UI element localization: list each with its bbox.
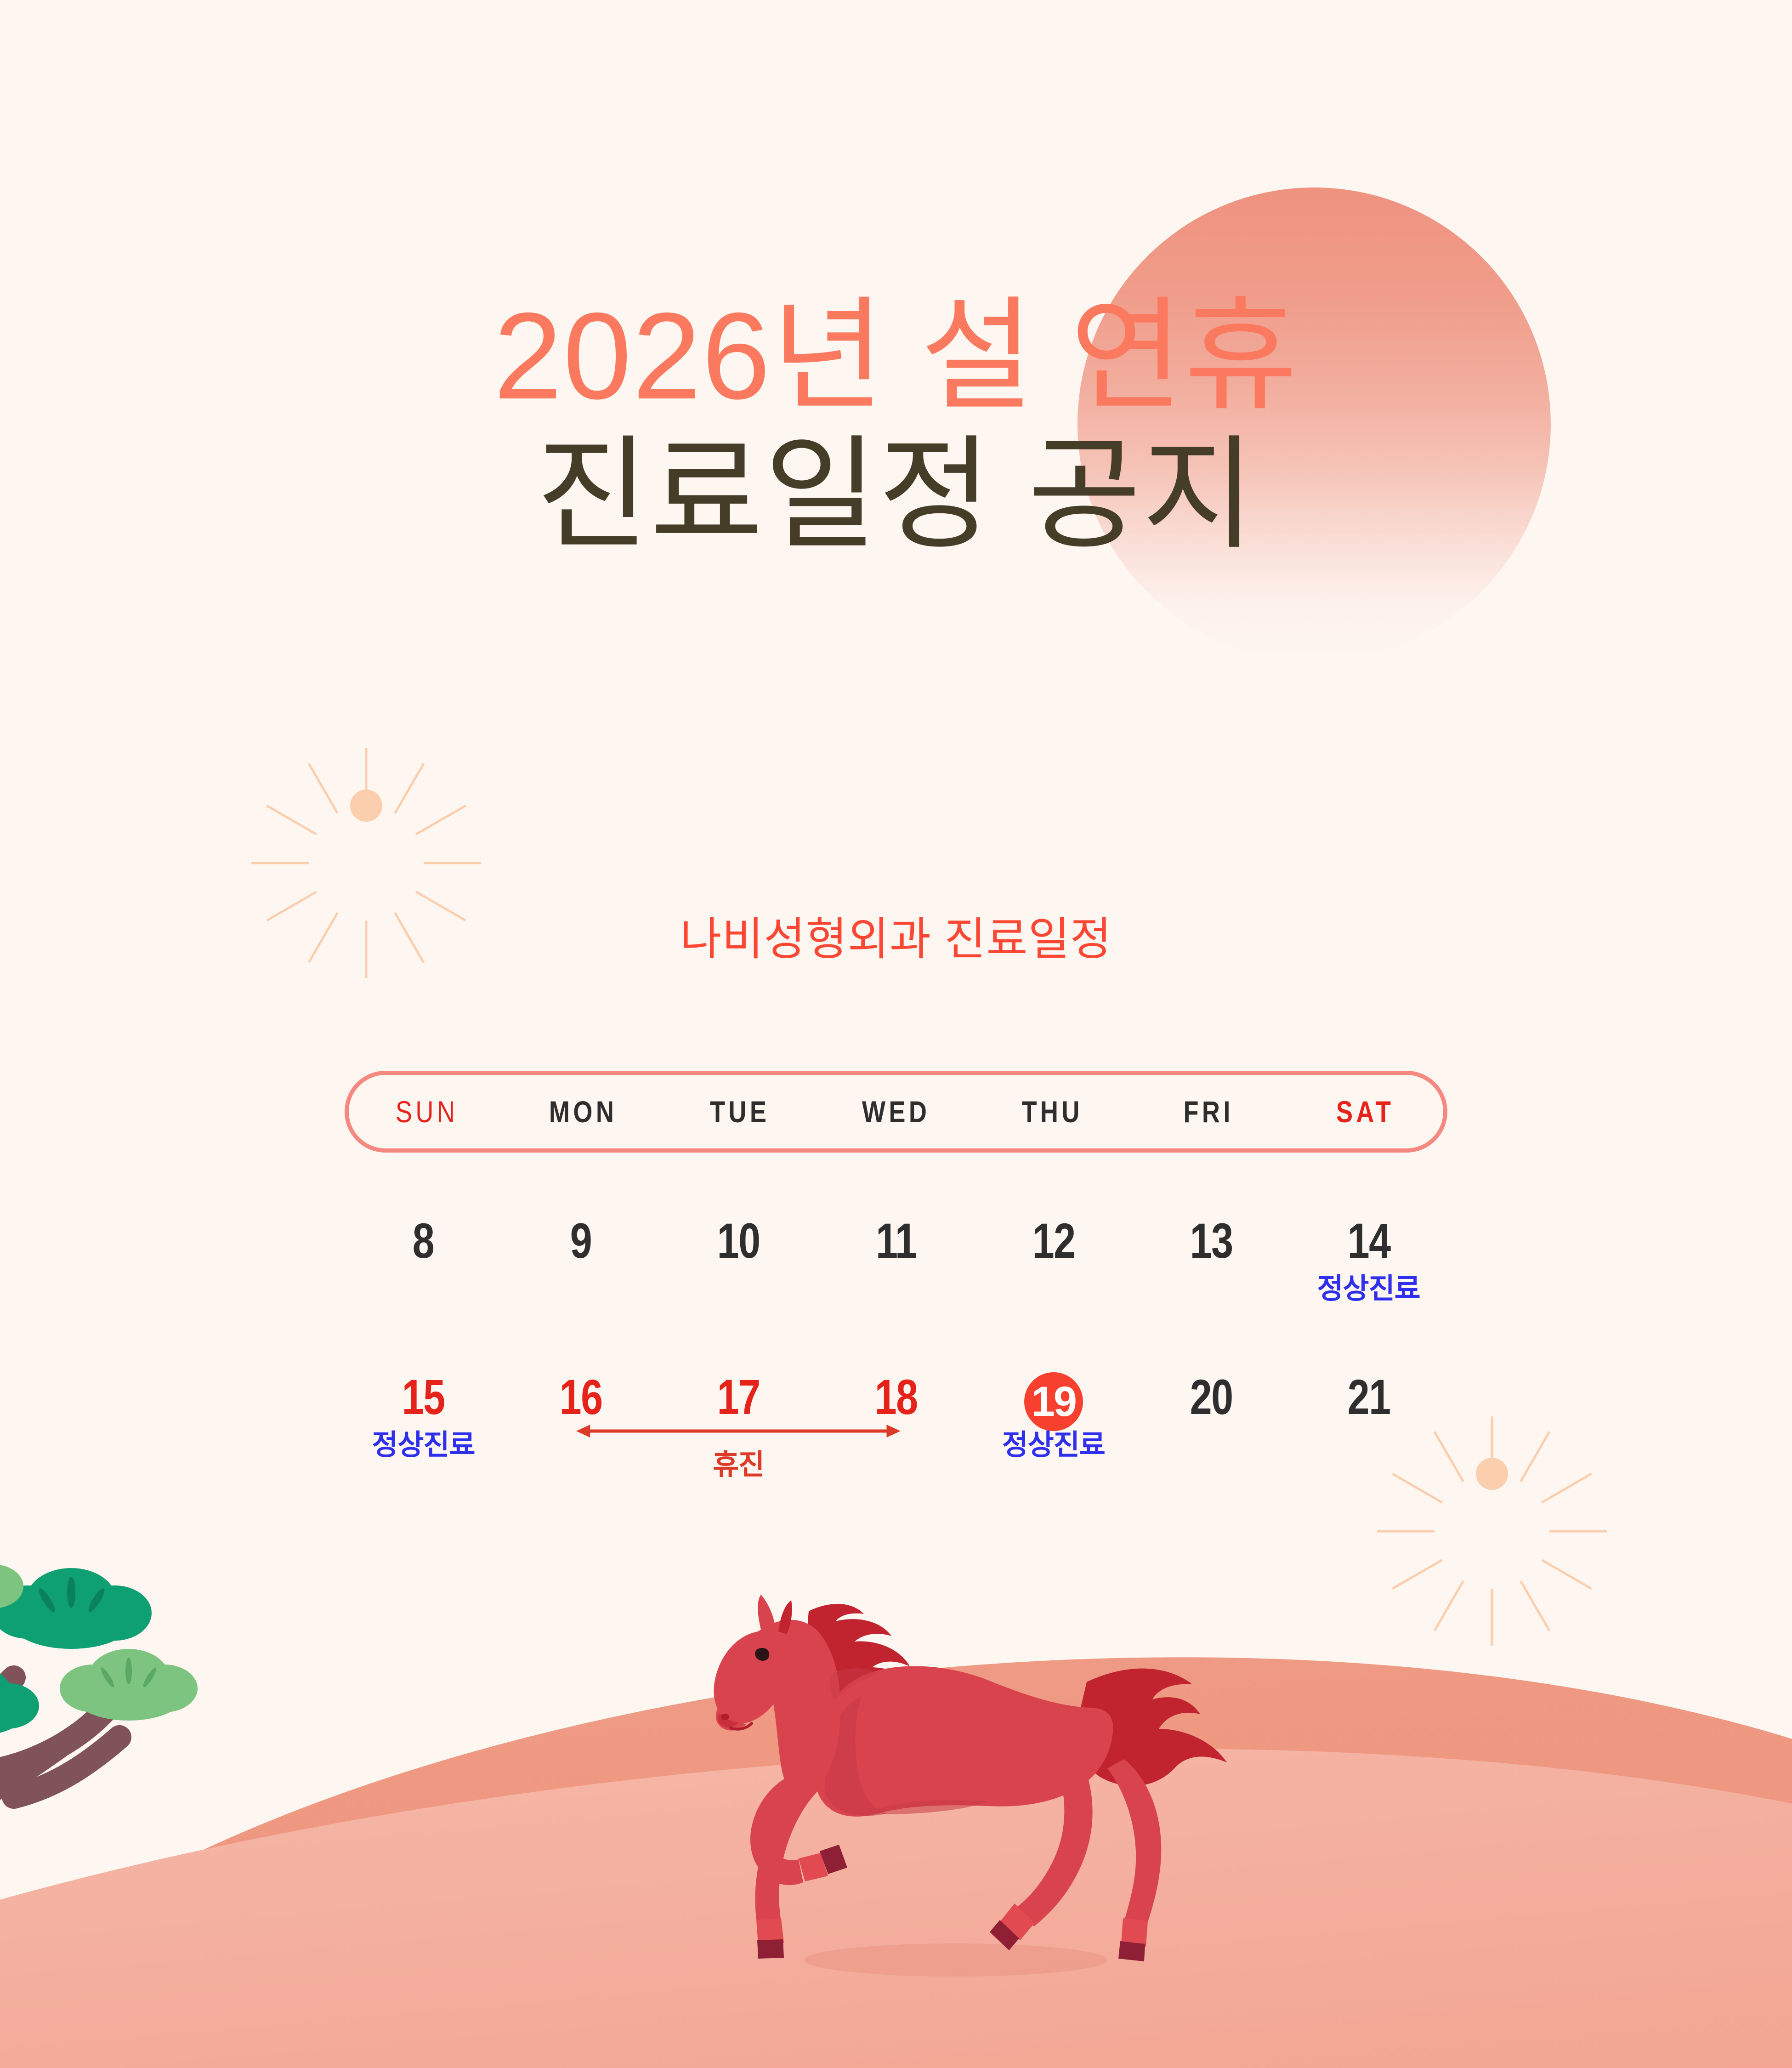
pine-tree-illustration bbox=[0, 1530, 239, 1815]
calendar-day-number: 17 bbox=[717, 1372, 760, 1422]
calendar-day-number: 16 bbox=[560, 1372, 602, 1422]
calendar-day-cell[interactable]: 20 bbox=[1132, 1372, 1290, 1483]
sunburst-icon-left bbox=[309, 748, 424, 863]
weekday-label-sat: SAT bbox=[1301, 1094, 1429, 1129]
sunburst-ray bbox=[308, 763, 339, 814]
weekday-label-fri: FRI bbox=[1145, 1094, 1273, 1129]
calendar-day-cell[interactable]: 19정상진료 bbox=[975, 1372, 1132, 1483]
poster-canvas: 2026년 설 연휴 진료일정 공지 나비성형외과 진료일정 SUNMONTUE… bbox=[0, 0, 1792, 2068]
calendar-day-cell[interactable]: 9 bbox=[502, 1216, 660, 1326]
calendar-day-cell[interactable]: 21 bbox=[1290, 1372, 1447, 1483]
horse-illustration bbox=[671, 1576, 1277, 1981]
calendar-day-number: 19 bbox=[1024, 1372, 1083, 1431]
sunburst-ray bbox=[1541, 1473, 1592, 1504]
page-title: 2026년 설 연휴 진료일정 공지 bbox=[0, 294, 1792, 556]
sunburst-ray bbox=[266, 805, 317, 835]
calendar-day-number: 11 bbox=[876, 1216, 916, 1266]
closed-range-arrow-icon bbox=[576, 1422, 901, 1440]
calendar-day-number: 14 bbox=[1347, 1216, 1390, 1266]
calendar-day-number: 15 bbox=[402, 1372, 445, 1422]
sunburst-ray bbox=[1491, 1416, 1493, 1474]
calendar-day-cell[interactable]: 15정상진료 bbox=[345, 1372, 502, 1483]
headline-line-2: 진료일정 공지 bbox=[0, 433, 1792, 556]
sunburst-ray bbox=[1434, 1580, 1464, 1631]
sunburst-ray bbox=[1520, 1580, 1550, 1631]
headline-line-1: 2026년 설 연휴 bbox=[0, 294, 1792, 417]
calendar-day-number: 8 bbox=[413, 1216, 434, 1266]
calendar-day-cell[interactable]: 13 bbox=[1132, 1216, 1290, 1326]
calendar-day-status-badge: 정상진료 bbox=[345, 1431, 502, 1460]
calendar-day-number: 13 bbox=[1190, 1216, 1232, 1266]
sunburst-ray bbox=[415, 805, 466, 835]
calendar-day-number: 10 bbox=[717, 1216, 760, 1266]
sunburst-ray bbox=[1549, 1530, 1607, 1533]
calendar-day-number: 9 bbox=[570, 1216, 591, 1266]
closed-range-label: 휴진 bbox=[660, 1441, 817, 1483]
calendar-day-cell[interactable]: 11 bbox=[817, 1216, 975, 1326]
sunburst-ray bbox=[424, 862, 481, 864]
calendar-day-cell[interactable]: 14정상진료 bbox=[1290, 1216, 1447, 1326]
sunburst-icon-right bbox=[1435, 1416, 1549, 1531]
weekday-label-wed: WED bbox=[832, 1094, 960, 1129]
calendar-weekday-header: SUNMONTUEWEDTHUFRISAT bbox=[345, 1071, 1447, 1153]
calendar-day-status-badge: 정상진료 bbox=[975, 1431, 1132, 1460]
clinic-schedule-subtitle: 나비성형외과 진료일정 bbox=[0, 915, 1792, 964]
sunburst-ray bbox=[1491, 1589, 1493, 1646]
calendar-day-number: 21 bbox=[1347, 1372, 1390, 1422]
sunburst-ray bbox=[251, 862, 309, 864]
calendar-day-number: 18 bbox=[875, 1372, 918, 1422]
sunburst-ray bbox=[365, 748, 368, 806]
sunburst-ray bbox=[394, 763, 425, 814]
calendar: SUNMONTUEWEDTHUFRISAT 891011121314정상진료 1… bbox=[345, 1071, 1447, 1483]
weekday-label-mon: MON bbox=[519, 1094, 647, 1129]
calendar-day-cell[interactable]: 8 bbox=[345, 1216, 502, 1326]
sunburst-ray bbox=[1541, 1559, 1592, 1590]
calendar-week-row-2: 15정상진료16171819정상진료2021 휴진 bbox=[345, 1372, 1447, 1483]
sunburst-ray bbox=[1377, 1530, 1435, 1533]
calendar-day-number: 12 bbox=[1032, 1216, 1075, 1266]
weekday-label-tue: TUE bbox=[675, 1094, 804, 1129]
calendar-week-row-1: 891011121314정상진료 bbox=[345, 1216, 1447, 1326]
weekday-label-sun: SUN bbox=[363, 1094, 491, 1129]
calendar-day-status-badge: 정상진료 bbox=[1290, 1275, 1447, 1303]
sunburst-ray bbox=[1392, 1559, 1443, 1590]
weekday-label-thu: THU bbox=[988, 1094, 1117, 1129]
calendar-day-cell[interactable]: 10 bbox=[660, 1216, 817, 1326]
calendar-day-number: 20 bbox=[1190, 1372, 1232, 1422]
sunburst-ray bbox=[1520, 1431, 1550, 1482]
calendar-day-cell[interactable]: 12 bbox=[975, 1216, 1132, 1326]
